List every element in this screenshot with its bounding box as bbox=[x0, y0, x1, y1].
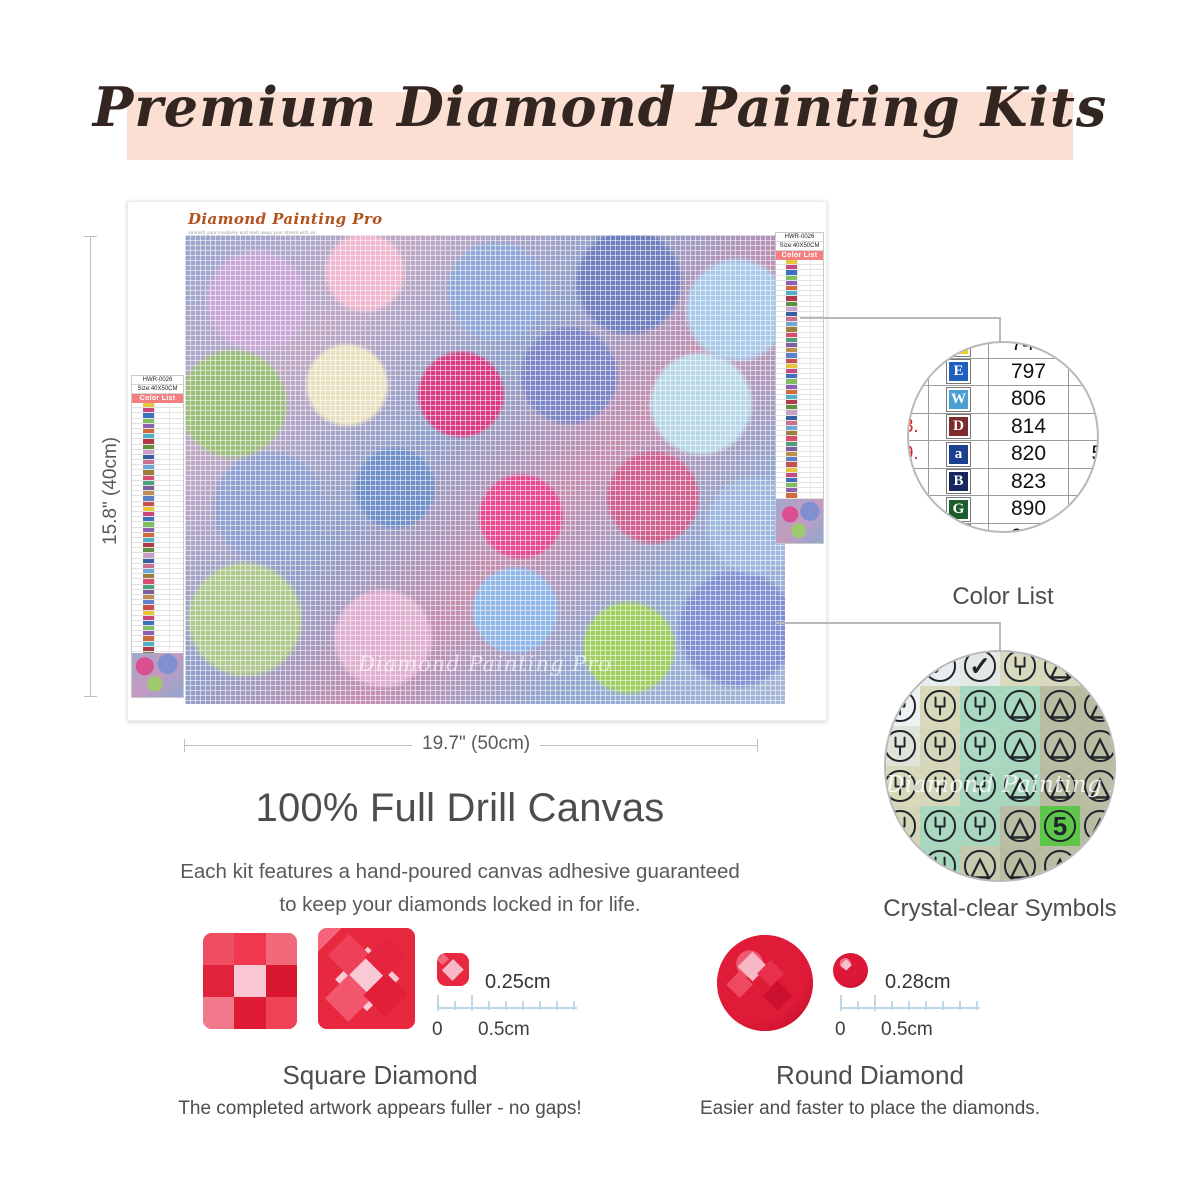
ruler-tick-minor bbox=[976, 1001, 978, 1010]
color-row-qty bbox=[169, 439, 183, 443]
zoom-row-dmc: 743 bbox=[989, 341, 1069, 358]
color-row-qty bbox=[810, 276, 823, 280]
color-row-dmc bbox=[154, 439, 168, 443]
color-row-qty bbox=[169, 465, 183, 469]
zoom-row-qty: 204 bbox=[1069, 386, 1099, 413]
color-row-swatch bbox=[143, 465, 154, 469]
color-row-index bbox=[132, 496, 143, 500]
color-row-qty bbox=[169, 481, 183, 485]
color-row-dmc bbox=[154, 553, 168, 557]
color-row-qty bbox=[169, 434, 183, 438]
color-row-index bbox=[132, 533, 143, 537]
color-row-swatch bbox=[786, 317, 796, 321]
color-row-index bbox=[132, 559, 143, 563]
color-row-swatch bbox=[143, 486, 154, 490]
strip-title-left: Color List bbox=[132, 394, 183, 403]
color-row-index bbox=[132, 429, 143, 433]
color-row-qty bbox=[810, 260, 823, 264]
symbol-cell: ⑂ bbox=[884, 846, 920, 882]
symbol-glyph: ⑂ bbox=[884, 810, 915, 841]
symbol-cell: ⑂ bbox=[920, 726, 960, 766]
color-row-swatch bbox=[786, 338, 796, 342]
color-row-index bbox=[776, 426, 786, 430]
color-row-swatch bbox=[786, 353, 796, 357]
height-dimension-label: 15.8" (40cm) bbox=[100, 437, 122, 545]
color-row-qty bbox=[169, 424, 183, 428]
color-row-index bbox=[776, 322, 786, 326]
zoom-row-dmc: 936 bbox=[989, 524, 1069, 534]
symbol-cell: △ bbox=[1000, 686, 1040, 726]
color-row-index bbox=[132, 517, 143, 521]
color-row-index bbox=[132, 413, 143, 417]
color-row-qty bbox=[169, 564, 183, 568]
main-body-line-1: Each kit features a hand-poured canvas a… bbox=[80, 860, 840, 884]
color-row-qty bbox=[169, 574, 183, 578]
symbol-cell: ⑂ bbox=[884, 726, 920, 766]
color-row-dmc bbox=[797, 447, 810, 451]
color-row-index bbox=[776, 286, 786, 290]
color-row-index bbox=[776, 473, 786, 477]
symbol-glyph: △ bbox=[1004, 730, 1035, 761]
color-row-dmc bbox=[797, 385, 810, 389]
square-ruler-zero-label: 0 bbox=[432, 1019, 443, 1041]
color-row-index bbox=[776, 343, 786, 347]
strip-size-left: Size:40X50CM bbox=[132, 385, 183, 394]
zoom-row-symbol: G bbox=[929, 496, 989, 523]
color-row-index bbox=[776, 359, 786, 363]
symbol-cell: ⑂ bbox=[884, 806, 920, 846]
color-row-swatch bbox=[143, 502, 154, 506]
round-diamond-size-label: 0.28cm bbox=[885, 971, 951, 994]
color-row-swatch bbox=[786, 348, 796, 352]
color-row-qty bbox=[810, 405, 823, 409]
color-row-dmc bbox=[797, 291, 810, 295]
color-row-dmc bbox=[154, 647, 168, 651]
round-diamond-illustration bbox=[717, 935, 813, 1031]
color-row-dmc bbox=[797, 478, 810, 482]
color-row-qty bbox=[169, 642, 183, 646]
color-row-qty bbox=[169, 548, 183, 552]
color-row-dmc bbox=[154, 419, 168, 423]
color-symbol-badge: J bbox=[947, 341, 970, 356]
symbol-glyph: △ bbox=[1044, 730, 1075, 761]
color-row-dmc bbox=[797, 302, 810, 306]
color-row-swatch bbox=[786, 416, 796, 420]
color-row-index bbox=[132, 600, 143, 604]
color-row-swatch bbox=[786, 265, 796, 269]
color-row-index bbox=[776, 333, 786, 337]
color-row-qty bbox=[169, 419, 183, 423]
canvas-artwork: Diamond Painting Pro bbox=[185, 235, 785, 704]
color-row-dmc bbox=[797, 348, 810, 352]
symbol-glyph: ⑂ bbox=[884, 690, 915, 721]
color-row-dmc bbox=[154, 616, 168, 620]
symbol-cell: ⑂ bbox=[920, 686, 960, 726]
color-row-swatch bbox=[143, 439, 154, 443]
color-row-index bbox=[132, 543, 143, 547]
symbol-cell: ⑂ bbox=[960, 726, 1000, 766]
color-row-dmc bbox=[797, 333, 810, 337]
color-row-qty bbox=[810, 431, 823, 435]
color-row-dmc bbox=[797, 410, 810, 414]
color-row-swatch bbox=[143, 569, 154, 573]
color-row-index bbox=[776, 379, 786, 383]
color-row-index bbox=[132, 455, 143, 459]
color-row-swatch bbox=[786, 327, 796, 331]
color-row-swatch bbox=[786, 473, 796, 477]
color-row-swatch bbox=[786, 436, 796, 440]
ruler-tick-half bbox=[471, 995, 473, 1011]
color-list-zoom-row: C9369 bbox=[907, 524, 1099, 534]
color-row-qty bbox=[810, 452, 823, 456]
color-row-index bbox=[132, 470, 143, 474]
color-row-dmc bbox=[154, 512, 168, 516]
color-row-swatch bbox=[143, 621, 154, 625]
color-row-dmc bbox=[797, 364, 810, 368]
color-row-dmc bbox=[797, 431, 810, 435]
symbol-cell: △ bbox=[1000, 766, 1040, 806]
color-row-qty bbox=[169, 647, 183, 651]
symbol-cell: △ bbox=[1080, 766, 1116, 806]
color-row-index bbox=[132, 595, 143, 599]
zoom-row-index bbox=[907, 359, 929, 386]
ruler-tick-minor bbox=[891, 1001, 893, 1010]
color-row-swatch bbox=[143, 626, 154, 630]
color-row-index bbox=[132, 512, 143, 516]
symbol-glyph: ✓ bbox=[924, 650, 955, 681]
color-row-qty bbox=[169, 502, 183, 506]
color-row-swatch bbox=[143, 564, 154, 568]
color-row-index bbox=[776, 468, 786, 472]
color-row-dmc bbox=[154, 445, 168, 449]
symbol-cell: △ bbox=[1040, 846, 1080, 882]
color-row-dmc bbox=[797, 395, 810, 399]
color-row-qty bbox=[169, 569, 183, 573]
color-row-dmc bbox=[797, 488, 810, 492]
main-body-line-2: to keep your diamonds locked in for life… bbox=[80, 893, 840, 917]
main-heading: 100% Full Drill Canvas bbox=[80, 786, 840, 831]
symbol-cell: △ bbox=[1040, 726, 1080, 766]
color-row-dmc bbox=[797, 374, 810, 378]
color-row-index bbox=[776, 265, 786, 269]
color-row-dmc bbox=[154, 455, 168, 459]
color-row-index bbox=[132, 636, 143, 640]
color-list-zoom-row: 18.D81440 bbox=[907, 414, 1099, 442]
color-row-qty bbox=[810, 436, 823, 440]
color-list-callout-circle: J743E79747.W80620418.D8144019.a82058620.… bbox=[907, 341, 1099, 533]
strip-sku-right: HWR-0026 bbox=[776, 233, 823, 242]
color-row-swatch bbox=[786, 385, 796, 389]
square-diamond-size-label: 0.25cm bbox=[485, 971, 551, 994]
color-row-qty bbox=[169, 621, 183, 625]
color-row-swatch bbox=[786, 312, 796, 316]
symbol-glyph: ⑂ bbox=[964, 810, 995, 841]
color-row-swatch bbox=[143, 507, 154, 511]
color-row-swatch bbox=[786, 410, 796, 414]
color-row-swatch bbox=[786, 400, 796, 404]
color-row-dmc bbox=[797, 457, 810, 461]
color-row-swatch bbox=[143, 543, 154, 547]
strip-sku-left: HWR-0026 bbox=[132, 376, 183, 385]
ruler-tick-minor bbox=[942, 1001, 944, 1010]
color-row-index bbox=[776, 291, 786, 295]
symbol-cell: ⑂ bbox=[920, 766, 960, 806]
color-row-dmc bbox=[797, 379, 810, 383]
color-row-swatch bbox=[786, 333, 796, 337]
color-row-swatch bbox=[143, 445, 154, 449]
color-row-qty bbox=[169, 476, 183, 480]
color-row-qty bbox=[169, 429, 183, 433]
color-row-swatch bbox=[786, 442, 796, 446]
color-row-index bbox=[132, 481, 143, 485]
zoom-row-dmc: 806 bbox=[989, 386, 1069, 413]
symbol-cell: ⑂ bbox=[920, 806, 960, 846]
color-row-qty bbox=[810, 462, 823, 466]
color-row-swatch bbox=[143, 611, 154, 615]
color-row-qty bbox=[810, 493, 823, 497]
symbol-cell: △ bbox=[1000, 806, 1040, 846]
color-row-qty bbox=[169, 616, 183, 620]
symbol-cell: △ bbox=[1000, 846, 1040, 882]
strip-rows-right bbox=[776, 260, 823, 519]
color-row-swatch bbox=[143, 470, 154, 474]
symbol-cell: △ bbox=[1000, 726, 1040, 766]
color-row-qty bbox=[169, 605, 183, 609]
symbol-glyph: △ bbox=[1044, 770, 1075, 801]
color-row-qty bbox=[810, 291, 823, 295]
color-row-dmc bbox=[154, 585, 168, 589]
zoom-row-symbol: B bbox=[929, 469, 989, 496]
width-tick-right bbox=[757, 739, 758, 752]
symbol-cell: △ bbox=[1080, 726, 1116, 766]
zoom-row-qty: 811 bbox=[1069, 496, 1099, 523]
symbol-glyph: ⑂ bbox=[884, 850, 915, 881]
zoom-row-symbol: W bbox=[929, 386, 989, 413]
strip-thumbnail-right bbox=[776, 499, 823, 543]
ruler-tick-minor bbox=[539, 1001, 541, 1010]
zoom-row-symbol: C bbox=[929, 524, 989, 534]
color-row-swatch bbox=[786, 296, 796, 300]
color-row-index bbox=[132, 439, 143, 443]
color-row-qty bbox=[169, 533, 183, 537]
color-row-index bbox=[776, 353, 786, 357]
symbol-glyph: △ bbox=[1084, 730, 1115, 761]
zoom-row-qty: 4 bbox=[1069, 359, 1099, 386]
symbol-glyph: ⑂ bbox=[964, 770, 995, 801]
strip-thumbnail-left bbox=[132, 653, 183, 697]
color-row-index bbox=[776, 276, 786, 280]
color-row-index bbox=[776, 281, 786, 285]
ruler-tick-0 bbox=[437, 995, 439, 1011]
color-row-qty bbox=[810, 307, 823, 311]
color-row-swatch bbox=[786, 291, 796, 295]
color-row-swatch bbox=[143, 496, 154, 500]
color-row-dmc bbox=[797, 322, 810, 326]
color-row-swatch bbox=[786, 493, 796, 497]
color-row-index bbox=[132, 611, 143, 615]
color-row-qty bbox=[169, 445, 183, 449]
color-row-index bbox=[776, 431, 786, 435]
color-row-swatch bbox=[786, 421, 796, 425]
color-row-index bbox=[132, 569, 143, 573]
symbol-glyph: △ bbox=[1044, 850, 1075, 881]
color-row-qty bbox=[169, 579, 183, 583]
page-title: Premium Diamond Painting Kits bbox=[0, 75, 1200, 139]
color-row-swatch bbox=[143, 450, 154, 454]
color-row-dmc bbox=[154, 528, 168, 532]
color-row-qty bbox=[169, 486, 183, 490]
color-row-qty bbox=[169, 470, 183, 474]
color-row-qty bbox=[810, 442, 823, 446]
zoom-row-qty: 586 bbox=[1069, 441, 1099, 468]
color-row-index bbox=[132, 631, 143, 635]
color-row-dmc bbox=[154, 631, 168, 635]
symbol-glyph: ⑂ bbox=[884, 730, 915, 761]
color-row-swatch bbox=[143, 460, 154, 464]
ruler-tick-minor bbox=[505, 1001, 507, 1010]
color-row-index bbox=[132, 408, 143, 412]
symbol-glyph: ⑂ bbox=[924, 810, 955, 841]
zoom-row-index: 19. bbox=[907, 441, 929, 468]
color-row-dmc bbox=[797, 462, 810, 466]
color-row-swatch bbox=[143, 413, 154, 417]
color-row-index bbox=[776, 488, 786, 492]
square-diamond-flat-illustration bbox=[203, 933, 297, 1029]
symbol-glyph: ⑂ bbox=[1004, 650, 1035, 681]
color-row-dmc bbox=[154, 543, 168, 547]
color-row-swatch bbox=[143, 419, 154, 423]
color-row-qty bbox=[169, 528, 183, 532]
symbol-glyph: △ bbox=[964, 850, 995, 881]
color-row-swatch bbox=[143, 595, 154, 599]
color-row-index bbox=[776, 457, 786, 461]
color-row-swatch bbox=[143, 616, 154, 620]
color-row-swatch bbox=[143, 647, 154, 651]
symbol-glyph: △ bbox=[1084, 810, 1115, 841]
color-list-zoom-row: 19.a820586 bbox=[907, 441, 1099, 469]
color-row-swatch bbox=[143, 476, 154, 480]
color-row-swatch bbox=[786, 483, 796, 487]
color-symbol-badge: E bbox=[947, 360, 970, 383]
color-row-dmc bbox=[797, 493, 810, 497]
color-row-index bbox=[132, 564, 143, 568]
symbols-zoom-grid: ✓✓⑂△⑂⑂⑂△△△⑂⑂⑂△△△⑂⑂⑂△△△⑂⑂⑂△5△⑂⑂△△△△ bbox=[884, 650, 1116, 882]
color-row-swatch bbox=[786, 447, 796, 451]
color-row-dmc bbox=[154, 595, 168, 599]
color-row-index bbox=[132, 642, 143, 646]
color-row-index bbox=[776, 416, 786, 420]
color-row-index bbox=[776, 421, 786, 425]
color-row-qty bbox=[810, 379, 823, 383]
artwork-watermark: Diamond Painting Pro bbox=[185, 652, 785, 676]
symbol-cell: △ bbox=[960, 846, 1000, 882]
color-row-dmc bbox=[797, 416, 810, 420]
color-row-swatch bbox=[143, 548, 154, 552]
ruler-tick-minor bbox=[857, 1001, 859, 1010]
color-list-leader-horizontal bbox=[800, 317, 1000, 319]
zoom-row-dmc: 823 bbox=[989, 469, 1069, 496]
square-diamond-faceted-illustration bbox=[318, 928, 415, 1029]
color-symbol-badge: D bbox=[947, 415, 970, 438]
strip-size-right: Size:40X50CM bbox=[776, 242, 823, 251]
color-row-qty bbox=[169, 517, 183, 521]
color-row-index bbox=[132, 621, 143, 625]
color-row-swatch bbox=[786, 270, 796, 274]
color-row-dmc bbox=[154, 470, 168, 474]
color-row-swatch bbox=[143, 636, 154, 640]
symbol-glyph: ✓ bbox=[964, 650, 995, 681]
color-row-dmc bbox=[154, 600, 168, 604]
color-row-qty bbox=[810, 385, 823, 389]
color-row-swatch bbox=[786, 468, 796, 472]
ruler-tick-minor bbox=[522, 1001, 524, 1010]
color-row-qty bbox=[810, 400, 823, 404]
color-row-dmc bbox=[154, 413, 168, 417]
round-diamond-title: Round Diamond bbox=[590, 1060, 1150, 1091]
color-row-qty bbox=[169, 611, 183, 615]
color-row-dmc bbox=[154, 481, 168, 485]
symbol-cell: △ bbox=[1080, 846, 1116, 882]
color-row-qty bbox=[169, 590, 183, 594]
symbol-cell: △ bbox=[1040, 650, 1080, 686]
square-diamond-scale-gem bbox=[437, 953, 469, 986]
color-row-qty bbox=[810, 473, 823, 477]
color-row-index bbox=[776, 483, 786, 487]
color-row-swatch bbox=[143, 538, 154, 542]
square-ruler-half-label: 0.5cm bbox=[478, 1019, 530, 1041]
infographic-page: Premium Diamond Painting Kits 15.8" (40c… bbox=[0, 0, 1200, 1200]
round-ruler-zero-label: 0 bbox=[835, 1019, 846, 1041]
color-row-dmc bbox=[154, 517, 168, 521]
strip-title-right: Color List bbox=[776, 251, 823, 260]
color-list-zoom-row: 7.W806204 bbox=[907, 386, 1099, 414]
color-row-index bbox=[776, 436, 786, 440]
ruler-tick-half bbox=[874, 995, 876, 1011]
color-row-swatch bbox=[786, 374, 796, 378]
color-row-swatch bbox=[143, 585, 154, 589]
color-list-zoom-row: 1.G890811 bbox=[907, 496, 1099, 524]
color-row-swatch bbox=[143, 533, 154, 537]
color-row-index bbox=[132, 507, 143, 511]
color-row-qty bbox=[810, 296, 823, 300]
color-row-qty bbox=[169, 512, 183, 516]
color-row-index bbox=[132, 538, 143, 542]
color-row-dmc bbox=[797, 359, 810, 363]
symbol-glyph: △ bbox=[1084, 850, 1115, 881]
color-row-swatch bbox=[786, 478, 796, 482]
color-row-dmc bbox=[797, 276, 810, 280]
color-row-swatch bbox=[786, 322, 796, 326]
color-row-swatch bbox=[143, 559, 154, 563]
ruler-tick-minor bbox=[573, 1001, 575, 1010]
color-row-dmc bbox=[154, 507, 168, 511]
color-row-swatch bbox=[143, 574, 154, 578]
color-row-index bbox=[776, 327, 786, 331]
color-row-swatch bbox=[143, 605, 154, 609]
color-symbol-badge: G bbox=[947, 498, 970, 521]
color-row-qty bbox=[169, 403, 183, 407]
ruler-tick-minor bbox=[556, 1001, 558, 1010]
symbol-glyph: △ bbox=[1044, 650, 1075, 681]
color-row-dmc bbox=[797, 400, 810, 404]
color-row-swatch bbox=[786, 426, 796, 430]
color-row-qty bbox=[810, 286, 823, 290]
symbol-glyph: ⑂ bbox=[924, 730, 955, 761]
symbols-callout-circle: ✓✓⑂△⑂⑂⑂△△△⑂⑂⑂△△△⑂⑂⑂△△△⑂⑂⑂△5△⑂⑂△△△△ Diamo… bbox=[884, 650, 1116, 882]
artwork-drill-grid bbox=[185, 235, 785, 704]
symbol-glyph: △ bbox=[1084, 690, 1115, 721]
color-row-dmc bbox=[797, 426, 810, 430]
